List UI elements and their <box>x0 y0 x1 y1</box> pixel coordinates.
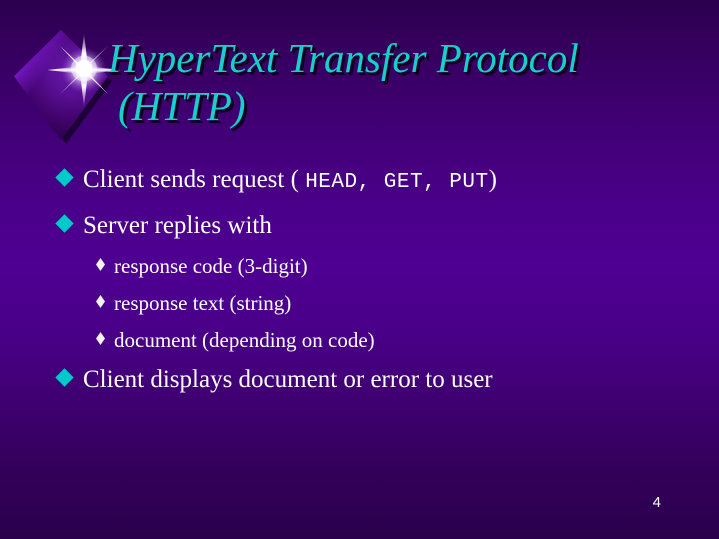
bullet-text: Client displays document or error to use… <box>83 360 493 399</box>
slide-canvas: HyperText Transfer Protocol (HTTP) Clien… <box>0 0 719 539</box>
http-methods-code: HEAD, GET, PUT <box>305 171 488 194</box>
bullet-text: Server replies with <box>83 206 272 245</box>
bullet-item-client-displays: Client displays document or error to use… <box>0 360 719 399</box>
slide-title: HyperText Transfer Protocol (HTTP) <box>108 34 698 130</box>
sub-bullet-diamond-icon <box>96 258 105 271</box>
bullet-text: response text (string) <box>114 286 291 321</box>
bullet-item-response-text: response text (string) <box>0 286 719 321</box>
sub-bullet-diamond-icon <box>96 332 105 345</box>
bullet-text-suffix: ) <box>489 166 497 193</box>
title-line-2: (HTTP) <box>108 82 698 130</box>
bullet-text: response code (3-digit) <box>114 249 308 284</box>
bullet-item-server-replies: Server replies with <box>0 206 719 245</box>
bullet-item-response-code: response code (3-digit) <box>0 249 719 284</box>
title-line-1: HyperText Transfer Protocol <box>108 34 698 82</box>
bullet-diamond-icon <box>55 168 73 186</box>
bullet-item-document: document (depending on code) <box>0 323 719 358</box>
bullet-item-client-sends-request: Client sends request ( HEAD, GET, PUT) <box>0 160 719 202</box>
bullet-text: document (depending on code) <box>114 323 375 358</box>
slide-body: Client sends request ( HEAD, GET, PUT) S… <box>0 160 719 403</box>
bullet-text: Client sends request ( HEAD, GET, PUT) <box>83 160 497 202</box>
bullet-diamond-icon <box>55 214 73 232</box>
bullet-text-prefix: Client sends request ( <box>83 166 305 193</box>
sub-bullet-diamond-icon <box>96 295 105 308</box>
bullet-diamond-icon <box>55 368 73 386</box>
slide-page-number: 4 <box>653 494 661 511</box>
